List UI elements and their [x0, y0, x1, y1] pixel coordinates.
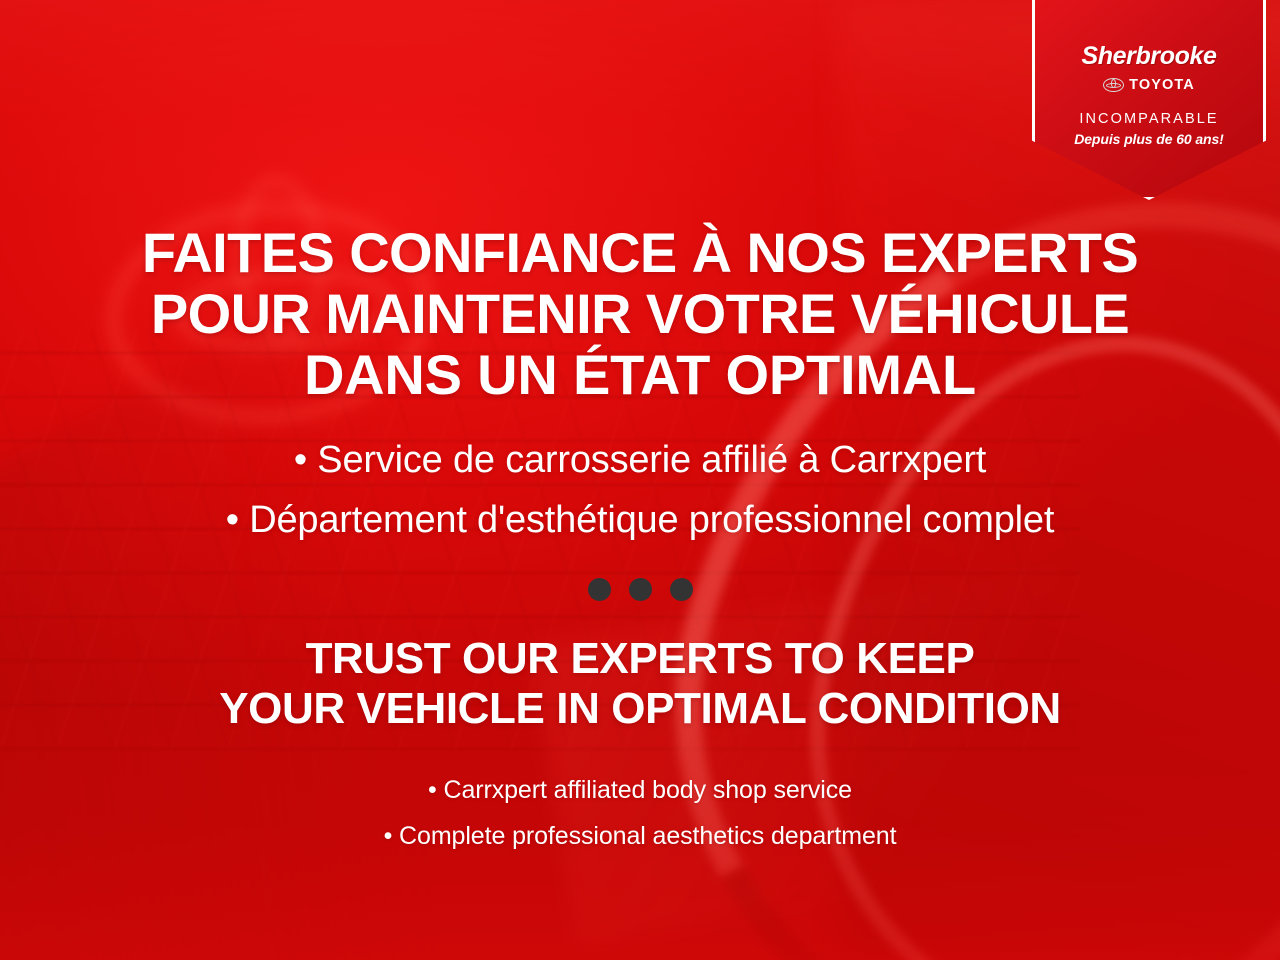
banner-content: FAITES CONFIANCE À NOS EXPERTS POUR MAIN… [0, 0, 1280, 960]
french-bullet-item-2: • Département d'esthétique professionnel… [0, 490, 1280, 550]
english-headline-line-2: YOUR VEHICLE IN OPTIMAL CONDITION [0, 684, 1280, 734]
english-bullet-item-1: • Carrxpert affiliated body shop service [0, 768, 1280, 814]
english-headline: TRUST OUR EXPERTS TO KEEP YOUR VEHICLE I… [0, 634, 1280, 734]
promo-banner: Sherbrooke TOYOTA INCOMPARABLE Depuis pl… [0, 0, 1280, 960]
english-headline-line-1: TRUST OUR EXPERTS TO KEEP [0, 634, 1280, 684]
english-bullet-item-2: • Complete professional aesthetics depar… [0, 814, 1280, 860]
french-bullet-item-1: • Service de carrosserie affilié à Carrx… [0, 430, 1280, 490]
english-bullet-list: • Carrxpert affiliated body shop service… [0, 768, 1280, 859]
divider-dot [670, 578, 693, 601]
french-headline: FAITES CONFIANCE À NOS EXPERTS POUR MAIN… [0, 222, 1280, 405]
french-headline-line-3: DANS UN ÉTAT OPTIMAL [0, 344, 1280, 405]
dot-divider [0, 578, 1280, 601]
divider-dot [588, 578, 611, 601]
divider-dot [629, 578, 652, 601]
french-headline-line-1: FAITES CONFIANCE À NOS EXPERTS [0, 222, 1280, 283]
french-bullet-list: • Service de carrosserie affilié à Carrx… [0, 430, 1280, 550]
french-headline-line-2: POUR MAINTENIR VOTRE VÉHICULE [0, 283, 1280, 344]
